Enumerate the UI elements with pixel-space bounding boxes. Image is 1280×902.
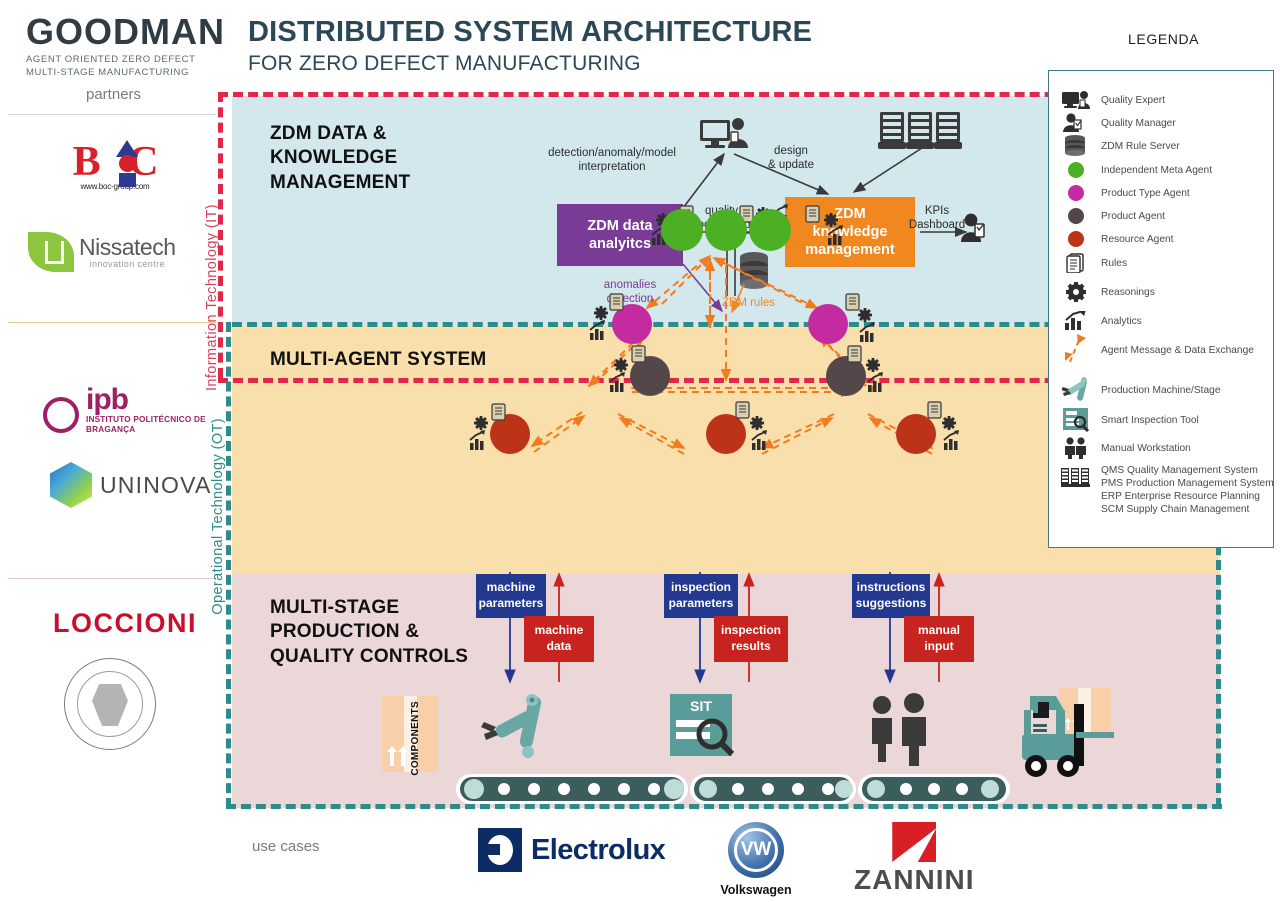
goodman-logo: GOODMAN AGENT ORIENTED ZERO DEFECT MULTI… (26, 14, 216, 80)
legend-title: LEGENDA (1128, 31, 1199, 47)
legend-item-product-type-agent: Product Type Agent (1061, 182, 1190, 204)
dark-dot-icon (1061, 205, 1091, 227)
legend-label: Independent Meta Agent (1101, 165, 1212, 176)
legend-system-line: QMS Quality Management System (1101, 465, 1274, 476)
legend-item-meta-agent: Independent Meta Agent (1061, 159, 1212, 181)
ipb-subtitle: INSTITUTO POLITÉCNICO DE BRAGANÇA (86, 415, 214, 436)
legend-item-analytics: Analytics (1061, 310, 1142, 332)
label-detection: detection/anomaly/model interpretation (542, 146, 682, 175)
legend-label: Product Type Agent (1101, 188, 1190, 199)
legend-item-resource-agent: Resource Agent (1061, 228, 1174, 250)
analytics-icon (1061, 310, 1091, 332)
leaf-icon (28, 232, 74, 272)
legend-item-product-agent: Product Agent (1061, 205, 1165, 227)
label-design-update: design & update (752, 144, 830, 173)
nissatech-tagline: innovation centre (79, 259, 175, 269)
partner-logo-boc: B C www.boc-group.com (40, 138, 190, 191)
partners-label: partners (86, 86, 141, 103)
machine-data-box[interactable]: machine data (524, 616, 594, 662)
legend-item-production-machine: Production Machine/Stage (1061, 379, 1221, 401)
rules-icon (1061, 252, 1091, 274)
partner-logo-nissatech: Nissatech innovation centre (28, 232, 208, 272)
green-dot-icon (1061, 159, 1091, 181)
usecase-logo-zannini: ZANNINI (854, 822, 975, 896)
page-subtitle: FOR ZERO DEFECT MANUFACTURING (248, 52, 641, 76)
manual-input-box[interactable]: manual input (904, 616, 974, 662)
electrolux-mark-icon (478, 828, 522, 872)
boc-square-icon (119, 173, 136, 187)
server-rack-icon (1061, 467, 1091, 489)
legend-system-line: ERP Enterprise Resource Planning (1101, 491, 1274, 502)
ipb-mark-icon (34, 390, 80, 432)
layer-title-it: ZDM DATA & KNOWLEDGE MANAGEMENT (270, 122, 410, 195)
axis-label-ot: Operational Technology (OT) (210, 418, 226, 615)
legend-item-zdm-rule-server: ZDM Rule Server (1061, 135, 1180, 157)
partner-logo-ipb: ipb INSTITUTO POLITÉCNICO DE BRAGANÇA (34, 386, 214, 435)
zannini-mark-icon (892, 822, 936, 862)
components-label: COMPONENTS (410, 701, 421, 776)
red-dot-icon (1061, 228, 1091, 250)
inspection-parameters-box[interactable]: inspection parameters (664, 574, 738, 618)
legend-label: Production Machine/Stage (1101, 385, 1221, 396)
partner-logo-uninova: UNINOVA (50, 462, 230, 508)
legend-system-line: PMS Production Management System (1101, 478, 1274, 489)
axis-label-it: Information Technology (IT) (204, 204, 220, 391)
legend-label: ZDM Rule Server (1101, 141, 1180, 152)
instructions-suggestions-box[interactable]: instructions suggestions (852, 574, 930, 618)
smart-inspection-tool-icon (1061, 409, 1091, 431)
robot-arm-icon (1061, 379, 1091, 401)
boc-wordmark: B C (73, 138, 158, 186)
legend-label: Smart Inspection Tool (1101, 415, 1199, 426)
legend-label: Product Agent (1101, 211, 1165, 222)
legend-item-systems: QMS Quality Management System PMS Produc… (1061, 465, 1274, 515)
usecase-logo-electrolux: Electrolux (478, 828, 665, 872)
legend-label: Quality Expert (1101, 95, 1165, 106)
gear-icon (1061, 281, 1091, 303)
zdm-data-analytics-box[interactable]: ZDM data analyitcs (557, 204, 683, 266)
ot-boundary-bottom (226, 804, 1222, 809)
rail-divider-2 (8, 322, 216, 323)
boc-circle-icon (119, 155, 136, 172)
zdm-rule-server-icon (1061, 135, 1091, 157)
legend-item-smart-inspection: Smart Inspection Tool (1061, 409, 1199, 431)
usecases-label: use cases (252, 838, 320, 855)
legend-label: Rules (1101, 258, 1127, 269)
machine-parameters-box[interactable]: machine parameters (476, 574, 546, 618)
vw-badge-icon: VW (728, 822, 784, 878)
partner-logo-univpm (64, 658, 156, 750)
rail-divider-3 (8, 578, 216, 579)
label-quality-production-data: quality & production data (672, 204, 782, 233)
legend-label: Resource Agent (1101, 234, 1174, 245)
legend-label: Reasonings (1101, 287, 1155, 298)
legend-label: Quality Manager (1101, 118, 1176, 129)
logo-tagline-line1: AGENT ORIENTED ZERO DEFECT (26, 54, 216, 67)
partner-logo-loccioni: LOCCIONI (40, 608, 210, 639)
inspection-results-box[interactable]: inspection results (714, 616, 788, 662)
page-title: DISTRIBUTED SYSTEM ARCHITECTURE (248, 16, 812, 49)
rail-divider-1 (8, 114, 216, 115)
legend-panel: Quality Expert Quality Manager ZDM Rule … (1048, 70, 1274, 548)
logo-tagline: AGENT ORIENTED ZERO DEFECT MULTI-STAGE M… (26, 54, 216, 80)
ipb-wordmark: ipb (86, 386, 214, 415)
legend-label: Manual Workstation (1101, 443, 1191, 454)
legend-system-line: SCM Supply Chain Management (1101, 504, 1274, 515)
layer-title-mas: MULTI-AGENT SYSTEM (270, 348, 486, 372)
uninova-hexagon-icon (50, 462, 92, 508)
logo-tagline-line2: MULTI-STAGE MANUFACTURING (26, 67, 216, 80)
label-zdm-rules: ZDM rules (722, 296, 808, 310)
ot-boundary-left (226, 322, 231, 808)
usecase-logo-volkswagen: VW Volkswagen (716, 822, 796, 897)
legend-label: Agent Message & Data Exchange (1101, 345, 1254, 356)
legend-item-agent-message: Agent Message & Data Exchange (1061, 339, 1254, 361)
quality-expert-icon (1061, 89, 1091, 111)
logo-wordmark: GOODMAN (26, 14, 216, 50)
zannini-wordmark: ZANNINI (854, 864, 975, 896)
nissatech-wordmark: Nissatech (79, 236, 175, 259)
layer-title-prod: MULTI-STAGE PRODUCTION & QUALITY CONTROL… (270, 596, 468, 669)
magenta-dot-icon (1061, 182, 1091, 204)
uninova-wordmark: UNINOVA (100, 472, 212, 499)
quality-manager-icon (1061, 112, 1091, 134)
label-anomalies-detection: anomalies detection (584, 278, 676, 307)
label-kpis-dashboard: KPIs Dashboard (894, 204, 980, 233)
legend-item-manual-workstation: Manual Workstation (1061, 437, 1191, 459)
manual-workstation-icon (1061, 437, 1091, 459)
vw-monogram: VW (734, 828, 778, 872)
legend-item-quality-manager: Quality Manager (1061, 112, 1176, 134)
legend-item-quality-expert: Quality Expert (1061, 89, 1165, 111)
electrolux-wordmark: Electrolux (531, 834, 665, 867)
univpm-seal-inner (77, 671, 143, 737)
logo-text: GOODMAN (26, 11, 225, 52)
volkswagen-wordmark: Volkswagen (716, 883, 796, 897)
message-exchange-icon (1061, 339, 1091, 361)
legend-item-rules: Rules (1061, 252, 1127, 274)
legend-label: Analytics (1101, 316, 1142, 327)
legend-item-reasonings: Reasonings (1061, 281, 1155, 303)
